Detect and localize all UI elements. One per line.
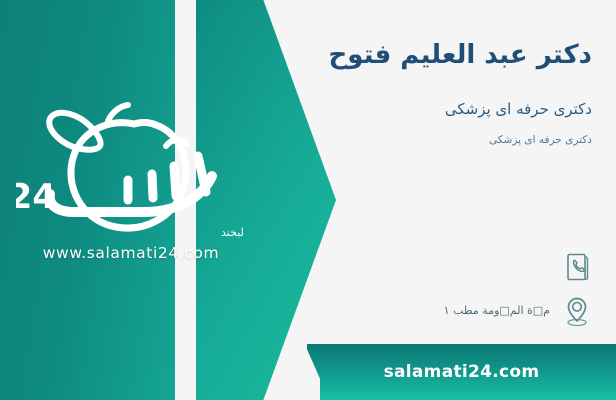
- contact-address-text: م□ة الم□ومة مطب ۱: [444, 303, 550, 320]
- doctor-profile-card: 24 براحتی یک لبخند www.salamati24.com دك…: [0, 0, 616, 400]
- doctor-name: دكتر عبد العليم فتوح: [172, 38, 592, 73]
- logo-website-url[interactable]: www.salamati24.com: [16, 244, 246, 262]
- logo-badge-24: 24: [16, 177, 56, 217]
- banner-url-text: salamati24.com: [384, 362, 540, 382]
- contact-row-phone[interactable]: [294, 248, 594, 286]
- logo-tagline: براحتی یک لبخند: [221, 226, 246, 239]
- location-pin-icon: [560, 292, 594, 330]
- doctor-specialty: دکتری حرفه ای پزشکی: [172, 98, 592, 121]
- phone-book-icon: [560, 248, 594, 286]
- doctor-specialty-secondary: دکتری حرفه ای پزشکی: [172, 133, 592, 149]
- bottom-url-banner[interactable]: salamati24.com: [307, 344, 616, 400]
- salamati24-logo[interactable]: 24 براحتی یک لبخند www.salamati24.com: [16, 96, 246, 276]
- contact-row-address[interactable]: م□ة الم□ومة مطب ۱: [294, 292, 594, 330]
- contact-info-block: م□ة الم□ومة مطب ۱: [294, 248, 594, 336]
